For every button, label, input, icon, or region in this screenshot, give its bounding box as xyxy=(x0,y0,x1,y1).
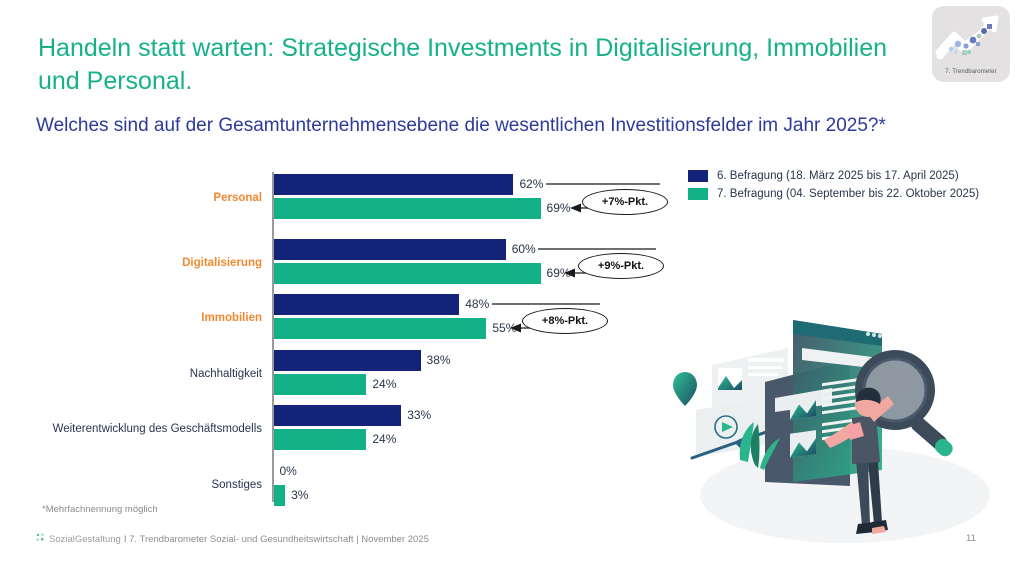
chart-group-nachhaltigkeit: Nachhaltigkeit 38% 24% xyxy=(0,350,700,400)
trendbarometer-logo: 7. Trendbarometer xyxy=(932,6,1010,82)
bar-4-navy xyxy=(274,405,402,426)
bar-value-1-navy: 60% xyxy=(512,242,536,256)
bar-1-navy xyxy=(274,239,506,260)
bar-value-3-green: 24% xyxy=(372,377,396,391)
chart-legend: 6. Befragung (18. März 2025 bis 17. Apri… xyxy=(688,170,979,206)
bar-2-navy xyxy=(274,294,460,315)
bar-value-4-green: 24% xyxy=(372,432,396,446)
illustration-graphic xyxy=(660,310,1020,545)
legend-label-0: 6. Befragung (18. März 2025 bis 17. Apri… xyxy=(717,170,959,182)
chart-group-digitalisierung: Digitalisierung 60% 69% xyxy=(0,239,700,289)
bar-value-5-navy: 0% xyxy=(280,464,297,478)
bar-value-2-navy: 48% xyxy=(465,297,489,311)
chart-question-subtitle: Welches sind auf der Gesamtunternehmense… xyxy=(36,112,936,140)
bar-0-navy xyxy=(274,174,514,195)
category-label-3: Nachhaltigkeit xyxy=(0,368,262,380)
chart-group-weiterentwicklung: Weiterentwicklung des Geschäftsmodells 3… xyxy=(0,405,700,455)
bar-value-1-green: 69% xyxy=(547,266,571,280)
category-label-5: Sonstiges xyxy=(0,479,262,491)
bar-2-green xyxy=(274,318,487,339)
page-title: Handeln statt warten: Strategische Inves… xyxy=(38,32,918,99)
bar-value-5-green: 3% xyxy=(291,488,308,502)
bar-0-green xyxy=(274,198,541,219)
bar-3-navy xyxy=(274,350,421,371)
footer-text: I 7. Trendbarometer Sozial- und Gesundhe… xyxy=(124,534,429,545)
chart-footnote: *Mehrfachnennung möglich xyxy=(42,504,158,515)
category-label-2: Immobilien xyxy=(0,312,262,324)
logo-caption: 7. Trendbarometer xyxy=(932,69,1010,75)
slide-footer: SozialGestaltung I 7. Trendbarometer Soz… xyxy=(36,533,429,545)
page-number: 11 xyxy=(966,533,976,544)
legend-item-0: 6. Befragung (18. März 2025 bis 17. Apri… xyxy=(688,170,979,182)
chart-group-immobilien: Immobilien 48% 55% xyxy=(0,294,700,344)
category-label-0: Personal xyxy=(0,192,262,204)
sozialgestaltung-mark-icon xyxy=(36,533,45,545)
bar-value-3-navy: 38% xyxy=(427,353,451,367)
bar-chart: Personal 62% 69% Digitalisierung 60% 69%… xyxy=(0,168,700,508)
bar-value-4-navy: 33% xyxy=(407,408,431,422)
bar-value-0-green: 69% xyxy=(547,201,571,215)
category-label-4: Weiterentwicklung des Geschäftsmodells xyxy=(0,423,262,435)
bar-5-green xyxy=(274,485,286,506)
bar-3-green xyxy=(274,374,367,395)
analysis-illustration xyxy=(660,310,1020,545)
slide-root: 7. Trendbarometer Handeln statt warten: … xyxy=(0,0,1024,571)
footer-brand: SozialGestaltung xyxy=(49,534,121,545)
legend-item-1: 7. Befragung (04. September bis 22. Okto… xyxy=(688,188,979,200)
chart-group-personal: Personal 62% 69% xyxy=(0,174,700,224)
bar-value-0-navy: 62% xyxy=(519,177,543,191)
bar-1-green xyxy=(274,263,541,284)
category-label-1: Digitalisierung xyxy=(0,257,262,269)
bar-4-green xyxy=(274,429,367,450)
legend-label-1: 7. Befragung (04. September bis 22. Okto… xyxy=(717,188,979,200)
bar-value-2-green: 55% xyxy=(492,321,516,335)
